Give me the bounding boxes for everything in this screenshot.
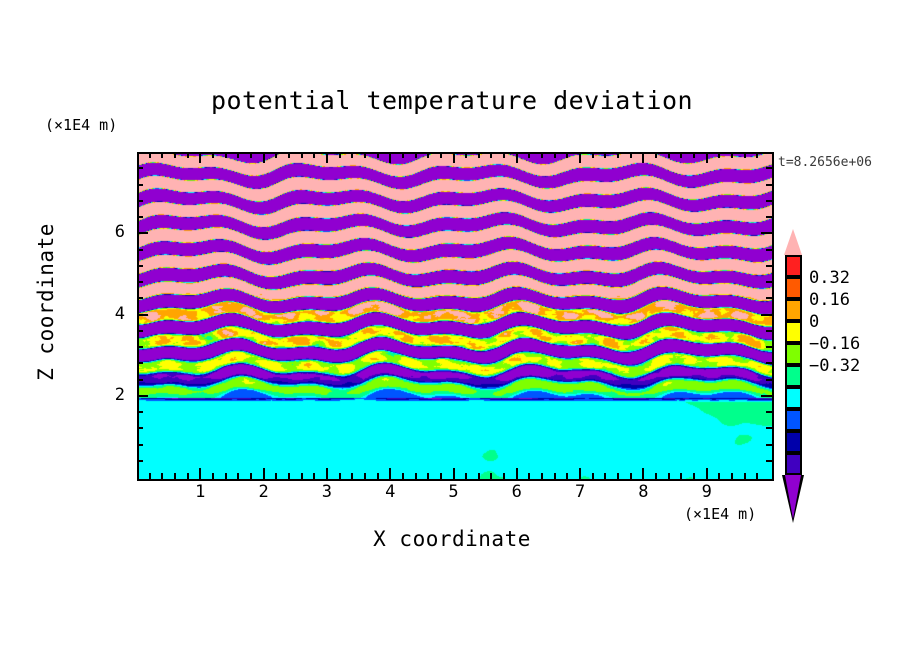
x-tick — [453, 468, 455, 479]
y-tick-right — [761, 314, 772, 316]
x-tick-top — [478, 152, 480, 158]
x-tick — [263, 468, 265, 479]
x-tick — [415, 473, 417, 479]
x-tick-top — [617, 152, 619, 158]
y-tick-right — [766, 411, 772, 413]
x-tick — [630, 473, 632, 479]
x-tick-top — [718, 152, 720, 158]
x-tick — [541, 473, 543, 479]
x-tick-top — [706, 152, 708, 163]
x-tick — [566, 473, 568, 479]
y-tick-right — [766, 297, 772, 299]
y-tick-right — [766, 427, 772, 429]
x-tick — [718, 473, 720, 479]
x-tick-top — [364, 152, 366, 158]
x-axis-unit-label: (×1E4 m) — [684, 505, 756, 523]
x-tick-top — [225, 152, 227, 158]
x-tick — [680, 473, 682, 479]
y-tick — [137, 249, 143, 251]
scalar-field-canvas — [139, 154, 772, 479]
x-tick — [313, 473, 315, 479]
x-tick-label: 4 — [375, 482, 405, 502]
x-tick — [237, 473, 239, 479]
x-tick — [339, 473, 341, 479]
x-tick — [364, 473, 366, 479]
x-tick — [668, 473, 670, 479]
y-tick — [137, 444, 143, 446]
x-tick — [744, 473, 746, 479]
colorbar-cell — [785, 409, 802, 431]
x-tick — [427, 473, 429, 479]
timestamp-label: t=8.2656e+06 — [778, 155, 872, 170]
y-axis-unit-label: (×1E4 m) — [45, 116, 117, 134]
y-tick-right — [766, 444, 772, 446]
y-tick — [137, 346, 143, 348]
x-tick-top — [693, 152, 695, 158]
y-tick — [137, 184, 143, 186]
x-tick — [478, 473, 480, 479]
x-tick-top — [377, 152, 379, 158]
colorbar-tick-label: 0.16 — [809, 290, 850, 310]
x-tick-top — [389, 152, 391, 163]
x-tick-label: 6 — [502, 482, 532, 502]
x-tick — [528, 473, 530, 479]
y-tick — [137, 460, 143, 462]
colorbar-cell — [785, 343, 802, 365]
x-tick-top — [415, 152, 417, 158]
y-tick-right — [766, 460, 772, 462]
y-tick — [137, 314, 148, 316]
x-tick — [351, 473, 353, 479]
x-tick-top — [351, 152, 353, 158]
x-tick-top — [566, 152, 568, 158]
colorbar-cell — [785, 365, 802, 387]
figure-root: potential temperature deviation (×1E4 m)… — [0, 0, 904, 654]
x-tick — [516, 468, 518, 479]
y-tick — [137, 411, 143, 413]
colorbar-tick-label: −0.16 — [809, 334, 860, 354]
x-tick — [187, 473, 189, 479]
x-tick — [642, 468, 644, 479]
contour-plot-area — [137, 152, 774, 481]
x-tick-top — [326, 152, 328, 163]
x-tick-label: 1 — [185, 482, 215, 502]
x-tick — [693, 473, 695, 479]
x-tick-top — [528, 152, 530, 158]
x-tick-top — [149, 152, 151, 158]
x-tick-top — [604, 152, 606, 158]
colorbar-cell — [785, 387, 802, 409]
y-tick-right — [766, 249, 772, 251]
y-tick — [137, 216, 143, 218]
x-tick — [301, 473, 303, 479]
colorbar[interactable]: 0.320.160−0.16−0.32 — [781, 227, 805, 527]
y-tick — [137, 167, 143, 169]
x-tick — [250, 473, 252, 479]
x-tick — [592, 473, 594, 479]
x-tick-top — [630, 152, 632, 158]
y-tick — [137, 379, 143, 381]
x-tick-top — [288, 152, 290, 158]
x-tick — [275, 473, 277, 479]
x-tick-top — [592, 152, 594, 158]
y-tick-right — [761, 395, 772, 397]
x-tick — [161, 473, 163, 479]
x-tick-top — [680, 152, 682, 158]
x-tick — [440, 473, 442, 479]
x-tick-top — [579, 152, 581, 163]
y-tick-label: 4 — [95, 304, 125, 324]
x-tick-top — [744, 152, 746, 158]
x-tick-top — [263, 152, 265, 163]
colorbar-cell — [785, 277, 802, 299]
x-tick — [402, 473, 404, 479]
y-tick-right — [766, 379, 772, 381]
x-tick — [389, 468, 391, 479]
x-tick-top — [339, 152, 341, 158]
colorbar-tick-label: 0 — [809, 312, 819, 332]
x-tick-top — [402, 152, 404, 158]
x-tick — [225, 473, 227, 479]
y-tick-right — [766, 330, 772, 332]
x-tick-top — [655, 152, 657, 158]
x-tick — [554, 473, 556, 479]
x-tick-top — [642, 152, 644, 163]
x-tick — [503, 473, 505, 479]
y-tick — [137, 281, 143, 283]
x-tick — [706, 468, 708, 479]
y-tick — [137, 265, 143, 267]
x-tick-top — [199, 152, 201, 163]
x-tick — [617, 473, 619, 479]
x-tick — [756, 473, 758, 479]
y-tick-label: 6 — [95, 222, 125, 242]
x-tick-label: 5 — [439, 482, 469, 502]
x-tick-top — [465, 152, 467, 158]
x-tick-top — [174, 152, 176, 158]
x-tick-label: 2 — [249, 482, 279, 502]
x-tick-top — [187, 152, 189, 158]
x-tick-top — [275, 152, 277, 158]
x-tick — [199, 468, 201, 479]
x-tick — [490, 473, 492, 479]
x-tick-top — [313, 152, 315, 158]
x-axis-title: X coordinate — [0, 527, 904, 551]
x-tick-top — [503, 152, 505, 158]
x-tick — [326, 468, 328, 479]
y-tick — [137, 395, 148, 397]
x-tick-label: 3 — [312, 482, 342, 502]
x-tick-top — [237, 152, 239, 158]
y-tick-label: 2 — [95, 385, 125, 405]
x-tick — [149, 473, 151, 479]
x-tick — [377, 473, 379, 479]
y-tick — [137, 200, 143, 202]
y-tick — [137, 232, 148, 234]
colorbar-over-arrow — [784, 229, 802, 255]
y-axis-title: Z coordinate — [34, 222, 58, 382]
colorbar-cell — [785, 299, 802, 321]
x-tick — [655, 473, 657, 479]
x-tick-top — [161, 152, 163, 158]
x-tick — [174, 473, 176, 479]
x-tick-top — [301, 152, 303, 158]
y-tick-right — [766, 216, 772, 218]
x-tick-top — [250, 152, 252, 158]
y-tick-right — [766, 265, 772, 267]
x-tick-top — [731, 152, 733, 158]
x-tick-top — [516, 152, 518, 163]
x-tick-top — [668, 152, 670, 158]
x-tick — [288, 473, 290, 479]
colorbar-cell — [785, 453, 802, 475]
y-tick — [137, 362, 143, 364]
x-tick-label: 7 — [565, 482, 595, 502]
colorbar-tick-label: 0.32 — [809, 268, 850, 288]
x-tick-top — [554, 152, 556, 158]
y-tick-right — [766, 167, 772, 169]
page-title: potential temperature deviation — [0, 86, 904, 115]
x-tick — [731, 473, 733, 479]
colorbar-tick-label: −0.32 — [809, 356, 860, 376]
y-tick — [137, 330, 143, 332]
colorbar-under-arrow — [785, 475, 801, 519]
x-tick-label: 9 — [692, 482, 722, 502]
x-tick — [465, 473, 467, 479]
y-tick-right — [766, 346, 772, 348]
x-tick-top — [453, 152, 455, 163]
x-tick — [579, 468, 581, 479]
y-tick — [137, 427, 143, 429]
x-tick-top — [440, 152, 442, 158]
x-tick-top — [541, 152, 543, 158]
x-tick-label: 8 — [628, 482, 658, 502]
x-tick — [212, 473, 214, 479]
x-tick-top — [212, 152, 214, 158]
y-tick-right — [766, 281, 772, 283]
y-tick-right — [766, 362, 772, 364]
x-tick-top — [490, 152, 492, 158]
colorbar-cell — [785, 321, 802, 343]
x-tick — [604, 473, 606, 479]
y-tick — [137, 297, 143, 299]
y-tick-right — [766, 184, 772, 186]
x-tick-top — [756, 152, 758, 158]
colorbar-cell — [785, 255, 802, 277]
x-tick-top — [427, 152, 429, 158]
y-tick-right — [766, 200, 772, 202]
colorbar-cell — [785, 431, 802, 453]
y-tick-right — [761, 232, 772, 234]
